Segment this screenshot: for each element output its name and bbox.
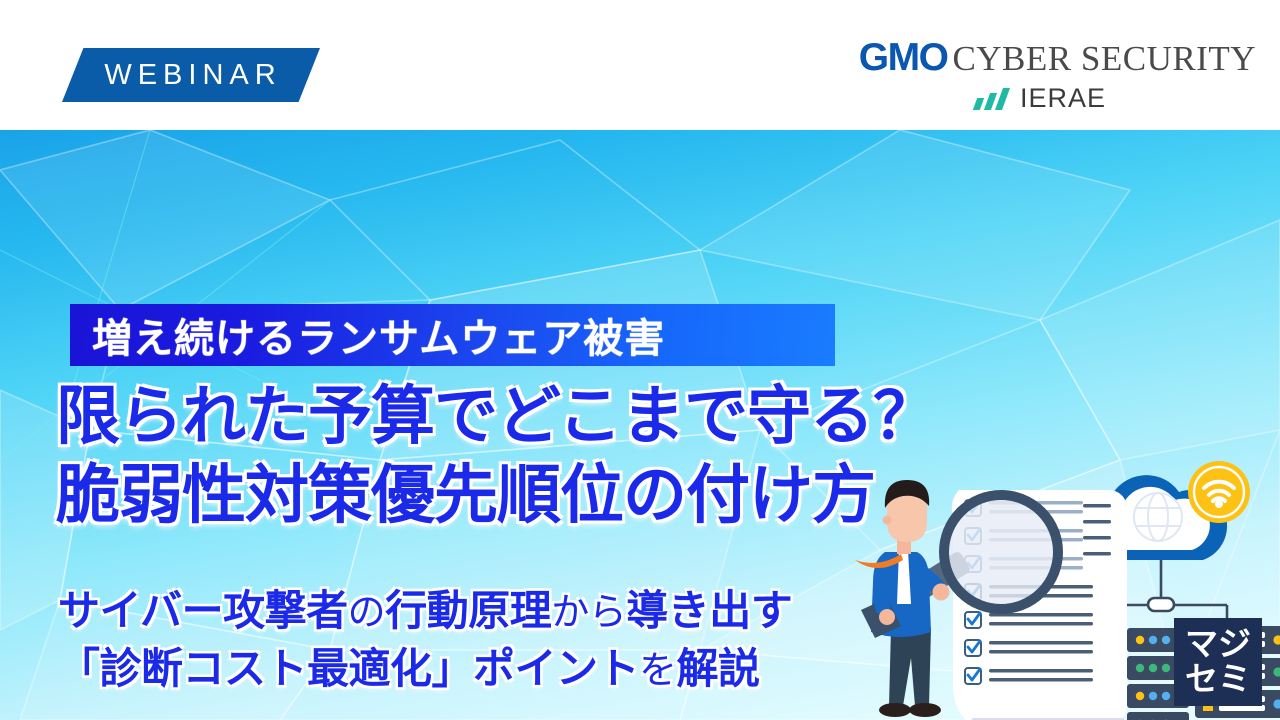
headline-line-1: 限られた予算でどこまで守る？: [56, 378, 936, 457]
subtitle-1-seg-d: から: [551, 590, 626, 634]
cyber-security-wordmark: CYBER SECURITY: [952, 39, 1256, 79]
subtitle-2-seg-d: 解説: [677, 644, 760, 693]
banner-body: 増え続けるランサムウェア被害 限られた予算でどこまで守る？ 脆弱性対策優先順位の…: [0, 130, 1280, 720]
subtitle-1-seg-e: 導き出す: [626, 586, 792, 635]
majisemi-line-2: セミ: [1185, 662, 1251, 697]
headline-line-2: 脆弱性対策優先順位の付け方: [56, 457, 936, 536]
subtitle-line-1: サイバー攻撃者の行動原理から導き出す: [58, 582, 792, 640]
subtitle-group: サイバー攻撃者の行動原理から導き出す 「診断コスト最適化」ポイントを解説: [58, 582, 792, 698]
webinar-badge-label: WEBINAR: [100, 59, 281, 92]
ierae-wordmark: IERAE: [1020, 83, 1106, 114]
logo-primary-row: GMO CYBER SECURITY: [859, 36, 1256, 80]
banner-header: WEBINAR GMO CYBER SECURITY IERAE: [0, 0, 1280, 130]
ribbon-text: 増え続けるランサムウェア被害: [70, 306, 665, 364]
webinar-banner: WEBINAR GMO CYBER SECURITY IERAE: [0, 0, 1280, 720]
gmo-wordmark: GMO: [859, 36, 948, 80]
wifi-badge-icon: [1188, 461, 1250, 523]
company-logo: GMO CYBER SECURITY IERAE: [859, 36, 1256, 114]
ribbon-banner: 増え続けるランサムウェア被害: [70, 304, 835, 366]
subtitle-1-seg-a: サイバー攻撃者: [58, 586, 348, 635]
logo-secondary-row: IERAE: [859, 83, 1256, 114]
webinar-badge: WEBINAR: [62, 48, 320, 102]
majisemi-line-1: マジ: [1185, 627, 1251, 662]
subtitle-2-seg-b: ポイント: [473, 644, 639, 693]
headline-group: 限られた予算でどこまで守る？ 脆弱性対策優先順位の付け方: [56, 378, 936, 537]
subtitle-2-seg-c: を: [639, 648, 677, 692]
subtitle-2-seg-a: 「診断コスト最適化」: [58, 644, 473, 693]
subtitle-line-2: 「診断コスト最適化」ポイントを解説: [58, 640, 792, 698]
network-hub-node: [1148, 598, 1174, 611]
subtitle-1-seg-c: 行動原理: [385, 586, 551, 635]
ierae-slash-icon: [975, 88, 1013, 110]
majisemi-logo: マジ セミ: [1174, 618, 1262, 706]
subtitle-1-seg-b: の: [348, 590, 386, 634]
